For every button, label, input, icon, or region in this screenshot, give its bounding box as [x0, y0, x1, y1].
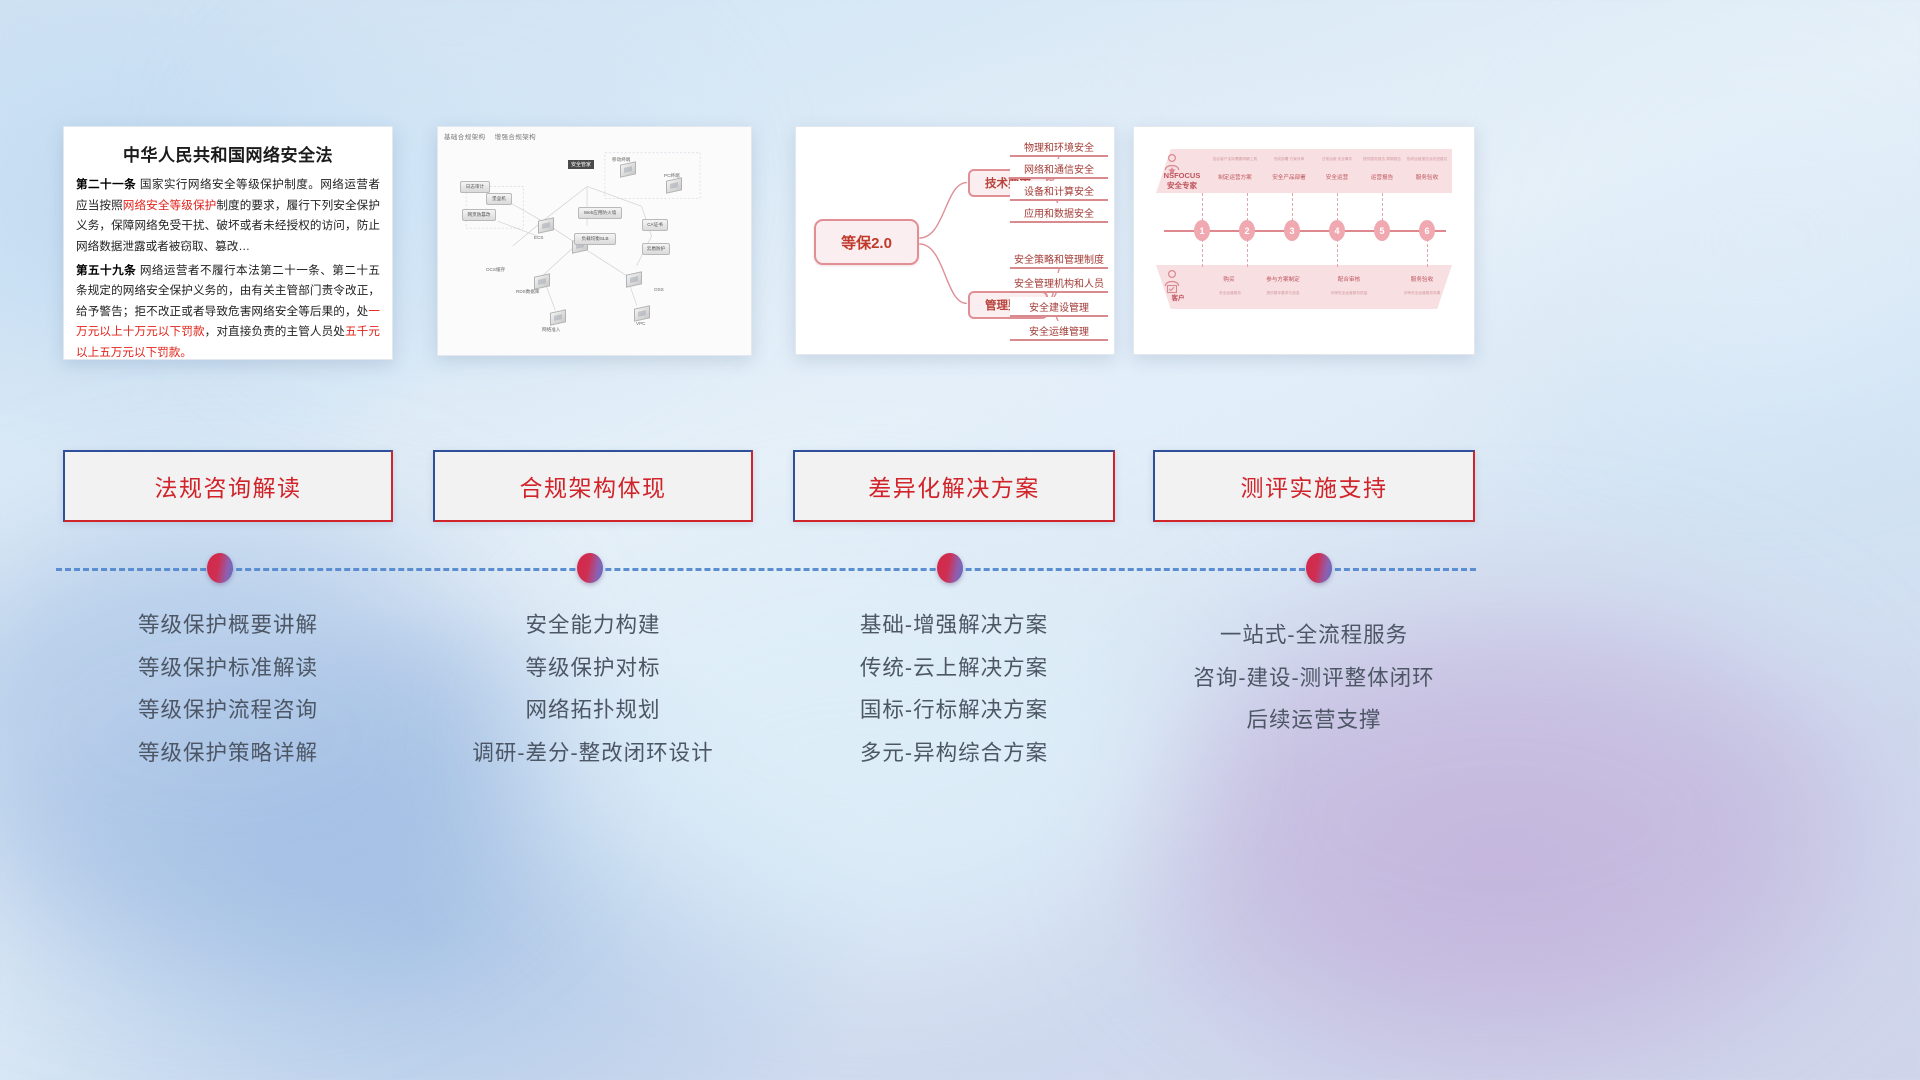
- timeline-bottom-sub: 评审安全运营服务质量: [1318, 291, 1380, 296]
- list-item: 等级保护流程咨询: [63, 690, 393, 733]
- timeline-connector: [1202, 193, 1203, 221]
- architecture-label: PC终端: [664, 173, 680, 179]
- timeline-card: NSFOCUS 安全专家 客户 制定运营方案 结合客户实际需要明确工具 安全产品…: [1133, 126, 1475, 355]
- list-item: 多元-异构综合方案: [793, 733, 1115, 776]
- timeline-bottom-band: [1156, 265, 1452, 309]
- section-title-differentiated-solution[interactable]: 差异化解决方案: [793, 450, 1115, 522]
- timeline-connector: [1337, 239, 1338, 267]
- mindmap-leaf: 安全管理机构和人员: [1010, 273, 1108, 293]
- law-article-number: 第五十九条: [76, 264, 136, 277]
- service-list-regulation-consulting: 等级保护概要讲解 等级保护标准解读 等级保护流程咨询 等级保护策略详解: [63, 605, 393, 775]
- timeline-connector: [1247, 193, 1248, 221]
- architecture-node: Web应用防火墙: [578, 207, 622, 219]
- timeline-top-sub: 形成运营报告及改进建议: [1398, 157, 1456, 162]
- architecture-node-core: 安全管家: [568, 160, 594, 169]
- law-paragraph: 第五十九条 网络运营者不履行本法第二十一条、第二十五条规定的网络安全保护义务的，…: [76, 261, 380, 361]
- timeline-top-title: 运营报告: [1360, 173, 1404, 181]
- milestone-dot-4: [1306, 553, 1332, 583]
- architecture-label: RDS数据库: [516, 289, 539, 295]
- section-title-regulation-consulting[interactable]: 法规咨询解读: [63, 450, 393, 522]
- timeline-step: 4: [1329, 220, 1345, 241]
- mindmap-leaf: 物理和环境安全: [1010, 137, 1108, 157]
- card-row: 中华人民共和国网络安全法 第二十一条 国家实行网络安全等级保护制度。网络运营者应…: [0, 126, 1920, 361]
- timeline-step: 3: [1284, 220, 1300, 241]
- milestone-dot-2: [577, 553, 603, 583]
- timeline-connector: [1202, 239, 1203, 267]
- timeline-top-title: 服务验收: [1406, 173, 1448, 181]
- law-run-highlight: 网络安全等级保护: [123, 199, 217, 212]
- mindmap-leaf: 安全运维管理: [1010, 321, 1108, 341]
- timeline-connector: [1337, 193, 1338, 221]
- architecture-label: OSS: [654, 287, 664, 292]
- timeline-step: 6: [1419, 220, 1435, 241]
- mindmap-leaf: 安全建设管理: [1010, 297, 1108, 317]
- list-item: 国标-行标解决方案: [793, 690, 1115, 733]
- architecture-card: 基础合规架构 增强合规架构 安全管家: [437, 126, 752, 356]
- timeline-top-title: 安全产品部署: [1264, 173, 1314, 181]
- mindmap-leaf: 网络和通信安全: [1010, 159, 1108, 179]
- timeline-step: 2: [1239, 220, 1255, 241]
- timeline-brand-sub: 安全专家: [1156, 181, 1208, 191]
- timeline-connector: [1382, 193, 1383, 221]
- mindmap-card: 等保2.0 技术要求 管理要求 物理和环境安全 网络和通信安全 设备和计算安全 …: [795, 126, 1115, 355]
- timeline-bottom-title: 配合审核: [1330, 275, 1368, 283]
- architecture-label: OCS缓存: [486, 267, 505, 273]
- list-item: 一站式-全流程服务: [1153, 615, 1475, 658]
- architecture-node: 负载均衡SLB: [574, 233, 616, 245]
- architecture-node: 网页防篡改: [462, 209, 496, 221]
- architecture-label: ECS: [534, 235, 543, 240]
- law-card: 中华人民共和国网络安全法 第二十一条 国家实行网络安全等级保护制度。网络运营者应…: [63, 126, 393, 360]
- timeline-connector: [1247, 239, 1248, 267]
- architecture-node: 云盾防护: [642, 243, 670, 255]
- section-title-compliance-architecture[interactable]: 合规架构体现: [433, 450, 753, 522]
- list-item: 等级保护对标: [433, 648, 753, 691]
- customer-icon: [1162, 269, 1182, 295]
- section-title-row: 法规咨询解读 合规架构体现 差异化解决方案 测评实施支持: [0, 450, 1920, 522]
- timeline-customer-label: 客户: [1158, 295, 1198, 304]
- architecture-label: 网络准入: [542, 327, 560, 333]
- list-item: 等级保护策略详解: [63, 733, 393, 776]
- timeline-bottom-sub: 提供基本要求与信息: [1254, 291, 1312, 296]
- architecture-node: 堡垒机: [486, 193, 512, 205]
- timeline-bottom-sub: 评审安全运营服务效果: [1392, 291, 1452, 296]
- timeline-dashed-axis: [56, 568, 1476, 571]
- timeline-brand-name: NSFOCUS: [1156, 171, 1208, 181]
- architecture-label: VPC: [636, 321, 645, 326]
- mindmap-leaf: 应用和数据安全: [1010, 203, 1108, 223]
- law-article-number: 第二十一条: [76, 178, 136, 191]
- mindmap-leaf: 设备和计算安全: [1010, 181, 1108, 201]
- timeline-top-title: 制定运营方案: [1208, 173, 1262, 181]
- milestone-dot-3: [937, 553, 963, 583]
- timeline-step: 1: [1194, 220, 1210, 241]
- timeline-connector: [1292, 193, 1293, 221]
- architecture-label: 移动终端: [612, 157, 630, 163]
- law-card-title: 中华人民共和国网络安全法: [64, 141, 392, 166]
- timeline-brand: NSFOCUS 安全专家: [1156, 171, 1208, 191]
- architecture-diagram: 基础合规架构 增强合规架构 安全管家: [438, 127, 751, 355]
- timeline-top-title: 安全运营: [1316, 173, 1358, 181]
- list-item: 基础-增强解决方案: [793, 605, 1115, 648]
- service-list-differentiated-solution: 基础-增强解决方案 传统-云上解决方案 国标-行标解决方案 多元-异构综合方案: [793, 605, 1115, 775]
- law-run: ，对直接负责的主管人员处: [205, 325, 345, 338]
- timeline-infographic: NSFOCUS 安全专家 客户 制定运营方案 结合客户实际需要明确工具 安全产品…: [1134, 127, 1474, 354]
- list-item: 咨询-建设-测评整体闭环: [1153, 658, 1475, 701]
- list-item: 后续运营支撑: [1153, 700, 1475, 743]
- architecture-node: 日志审计: [460, 181, 490, 193]
- timeline-step: 5: [1374, 220, 1390, 241]
- list-item: 安全能力构建: [433, 605, 753, 648]
- architecture-node: CA证书: [642, 219, 668, 231]
- mindmap-root-node: 等保2.0: [814, 219, 919, 265]
- timeline-bottom-title: 参与方案制定: [1258, 275, 1308, 283]
- law-card-body: 第二十一条 国家实行网络安全等级保护制度。网络运营者应当按照网络安全等级保护制度…: [64, 175, 392, 360]
- timeline-bottom-title: 服务验收: [1402, 275, 1442, 283]
- mindmap: 等保2.0 技术要求 管理要求 物理和环境安全 网络和通信安全 设备和计算安全 …: [796, 127, 1114, 354]
- list-item: 等级保护标准解读: [63, 648, 393, 691]
- timeline-bottom-sub: 安全运营服务: [1204, 291, 1256, 296]
- milestone-dot-1: [207, 553, 233, 583]
- list-item: 网络拓扑规划: [433, 690, 753, 733]
- mindmap-leaf: 安全策略和管理制度: [1010, 249, 1108, 269]
- list-item: 传统-云上解决方案: [793, 648, 1115, 691]
- service-list-assessment-support: 一站式-全流程服务 咨询-建设-测评整体闭环 后续运营支撑: [1153, 605, 1475, 743]
- law-paragraph: 第二十一条 国家实行网络安全等级保护制度。网络运营者应当按照网络安全等级保护制度…: [76, 175, 380, 258]
- list-item: 调研-差分-整改闭环设计: [433, 733, 753, 776]
- list-item: 等级保护概要讲解: [63, 605, 393, 648]
- service-list-compliance-architecture: 安全能力构建 等级保护对标 网络拓扑规划 调研-差分-整改闭环设计: [433, 605, 753, 775]
- timeline-connector: [1427, 239, 1428, 267]
- timeline-top-sub: 结合客户实际需要明确工具: [1204, 157, 1266, 162]
- timeline-bottom-title: 购买: [1212, 275, 1246, 283]
- section-title-assessment-support[interactable]: 测评实施支持: [1153, 450, 1475, 522]
